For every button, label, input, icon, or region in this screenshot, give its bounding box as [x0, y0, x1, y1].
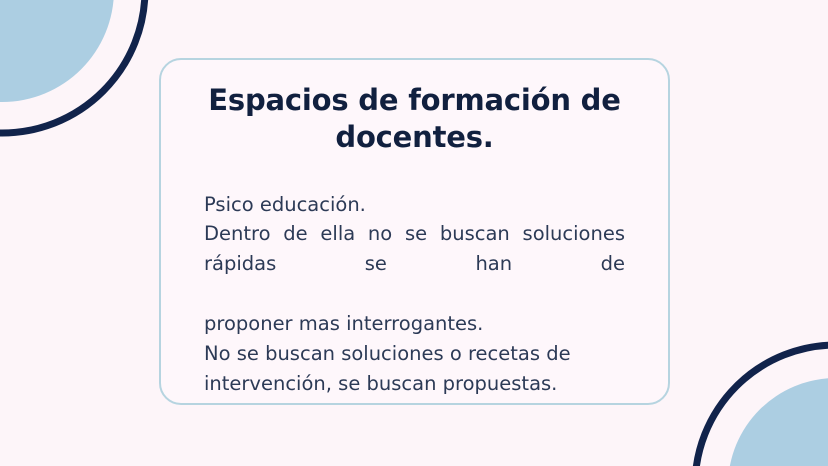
content-card: Espacios de formación de docentes. Psico… [159, 58, 670, 405]
top-left-navy-ring-icon [0, 0, 145, 133]
top-left-blue-circle [0, 0, 114, 102]
body-line-2a: Dentro de ella no se buscan soluciones r… [204, 219, 625, 308]
body-line-3: No se buscan soluciones o recetas de int… [204, 339, 625, 399]
bottom-right-navy-ring-icon [695, 345, 828, 466]
body-text-block: Psico educación. Dentro de ella no se bu… [203, 190, 626, 399]
body-line-1: Psico educación. [204, 190, 625, 220]
bottom-right-blue-circle [728, 378, 828, 466]
body-line-2b: proponer mas interrogantes. [204, 309, 625, 339]
slide-canvas: Espacios de formación de docentes. Psico… [0, 0, 828, 466]
page-title: Espacios de formación de docentes. [203, 82, 626, 156]
